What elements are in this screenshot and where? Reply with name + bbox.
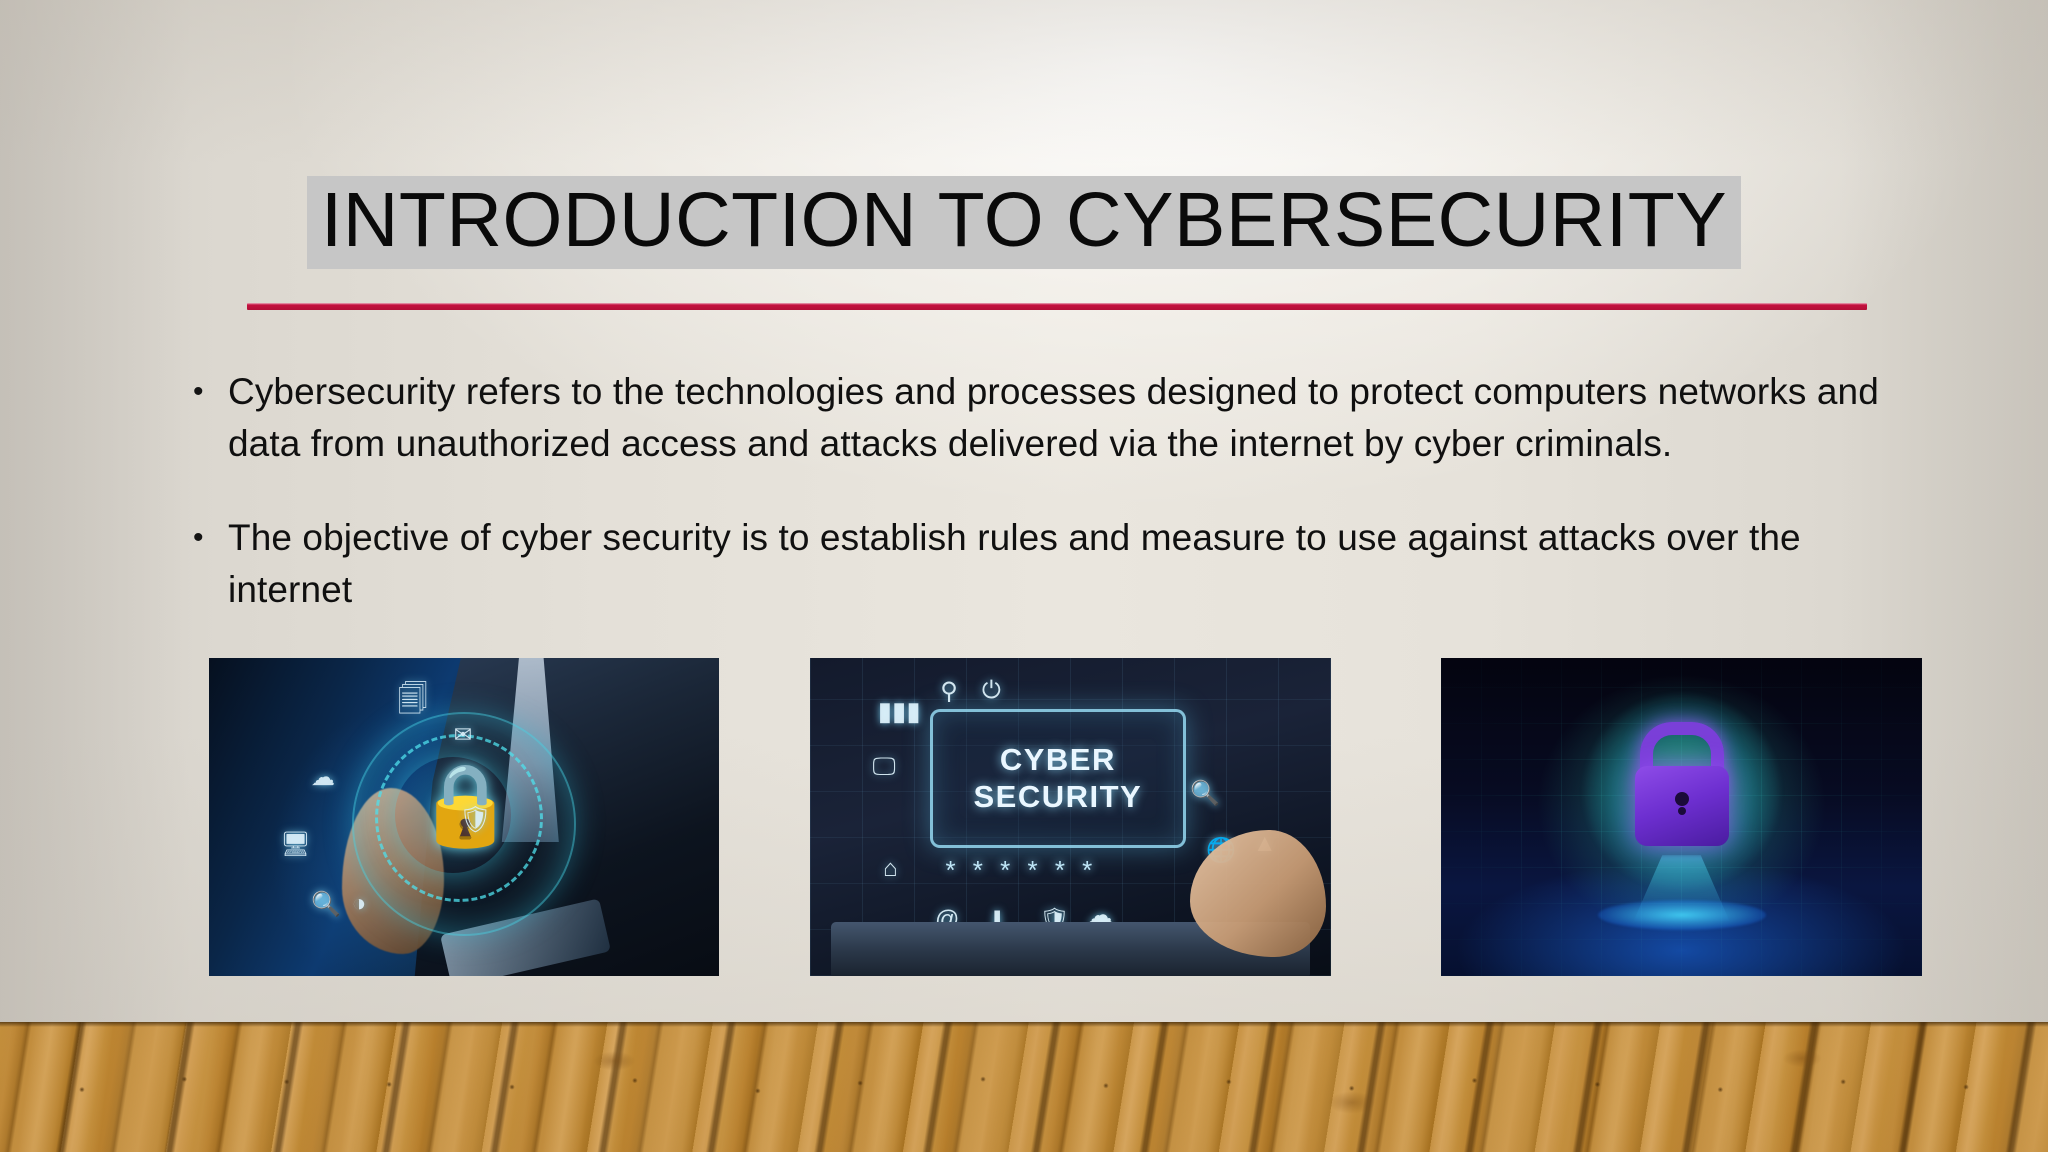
monitor-lock-icon: 🖥 — [280, 830, 310, 859]
bullet-text-1: Cybersecurity refers to the technologies… — [228, 366, 1932, 470]
bullet-text-2: The objective of cyber security is to es… — [228, 512, 1888, 616]
mail-icon: ✉ — [454, 722, 472, 748]
home-icon: ⌂ — [883, 855, 898, 883]
slide-body: • Cybersecurity refers to the technologi… — [186, 366, 1946, 658]
power-icon: ⏻ — [982, 677, 1001, 705]
photo3-base-glow — [1598, 900, 1766, 930]
monitor-icon: 🖵 — [873, 753, 896, 781]
photo3-lock-body — [1635, 766, 1729, 846]
page-title: INTRODUCTION TO CYBERSECURITY — [321, 177, 1727, 263]
eye-icon: ◑ — [352, 890, 367, 918]
title-accent-rule — [247, 303, 1867, 310]
image-strip: 🔒 🗐 ✉ ☁ 🛡 🖥 🔍 ◑ CYBER SECURITY * * * * *… — [0, 658, 2048, 978]
document-icon: 🗐 — [398, 677, 428, 728]
bullet-item-1: • Cybersecurity refers to the technologi… — [186, 366, 1946, 470]
map-pin-icon: ⚲ — [940, 677, 958, 706]
photo2-password-dots: * * * * * * — [945, 855, 1097, 886]
image-neon-padlock — [1441, 658, 1922, 976]
image-tablet-cyber-security: CYBER SECURITY * * * * * * ▮▮▮ ⚲ ⏻ 🖵 ⌂ @… — [810, 658, 1331, 976]
slide-title-container: INTRODUCTION TO CYBERSECURITY — [0, 176, 2048, 269]
bar-chart-icon: ▮▮▮ — [878, 696, 921, 727]
photo2-screen-line-1: CYBER — [1000, 744, 1116, 777]
padlock-icon — [1634, 722, 1730, 854]
cloud-lock-icon: ☁ — [311, 763, 335, 792]
photo2-screen-line-2: SECURITY — [973, 781, 1142, 814]
title-highlight-box: INTRODUCTION TO CYBERSECURITY — [307, 176, 1741, 269]
shield-lock-icon: 🛡 — [459, 804, 492, 835]
slide-root: INTRODUCTION TO CYBERSECURITY • Cybersec… — [0, 0, 2048, 1152]
bullet-item-2: • The objective of cyber security is to … — [186, 512, 1946, 616]
image-businessman-padlock: 🔒 🗐 ✉ ☁ 🛡 🖥 🔍 ◑ — [209, 658, 719, 976]
magnifier-icon: 🔍 — [1190, 779, 1220, 808]
floor-top-edge — [0, 1022, 2048, 1027]
photo3-keyhole — [1675, 792, 1689, 806]
magnifier-icon: 🔍 — [311, 890, 341, 919]
bullet-marker-icon: • — [186, 366, 228, 418]
bullet-marker-icon: • — [186, 512, 228, 564]
floor-knots — [0, 1022, 2048, 1152]
slide-floor — [0, 1022, 2048, 1152]
photo2-screen-panel: CYBER SECURITY — [930, 709, 1186, 849]
